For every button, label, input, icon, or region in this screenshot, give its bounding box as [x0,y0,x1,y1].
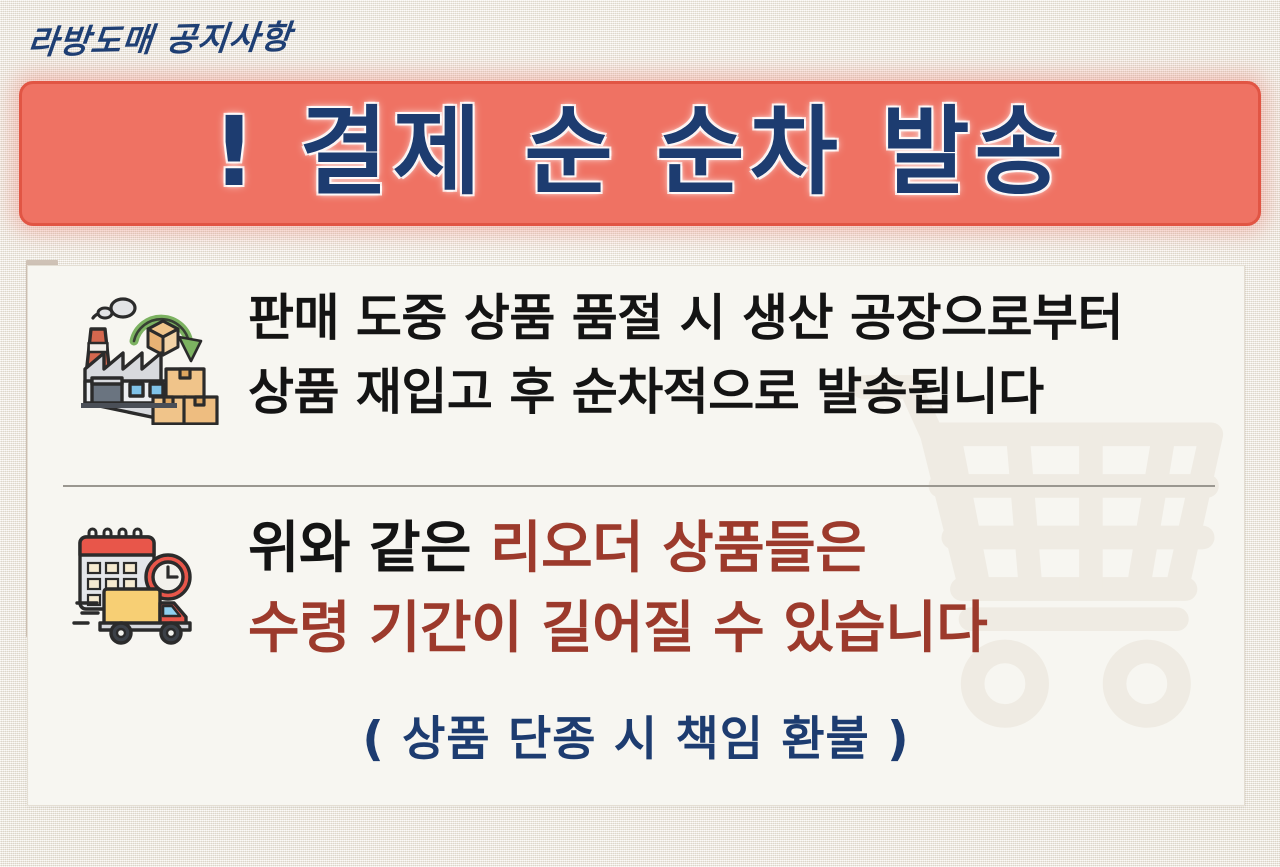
notice-line-3: 위와 같은 리오더 상품들은 [248,509,987,589]
notice-text-block-2: 위와 같은 리오더 상품들은 수령 기간이 길어질 수 있습니다 [248,509,987,669]
refund-note: ( 상품 단종 시 책임 환불 ) [28,709,1244,771]
notice-line-3-part-1: 위와 같은 [248,516,490,581]
notice-line-4: 수령 기간이 길어질 수 있습니다 [248,589,987,669]
factory-reorder-icon [66,280,226,430]
poster-canvas: 라방도매 공지사항 ! 결제 순 순차 발송 [0,0,1280,867]
notice-section-2: 위와 같은 리오더 상품들은 수령 기간이 길어질 수 있습니다 [66,509,987,669]
calendar-clock-truck-icon [66,514,226,664]
section-divider [63,485,1215,487]
notice-section-1: 판매 도중 상품 품절 시 생산 공장으로부터 상품 재입고 후 순차적으로 발… [66,280,1123,430]
notice-line-1: 판매 도중 상품 품절 시 생산 공장으로부터 [248,281,1123,355]
kicker-label: 라방도매 공지사항 [25,15,293,65]
headline-banner: ! 결제 순 순차 발송 [19,81,1261,226]
notice-text-block-1: 판매 도중 상품 품절 시 생산 공장으로부터 상품 재입고 후 순차적으로 발… [248,281,1123,429]
notice-line-3-part-2: 리오더 상품들은 [490,516,866,581]
notice-line-2: 상품 재입고 후 순차적으로 발송됩니다 [248,355,1123,429]
headline-title: ! 결제 순 순차 발송 [212,102,1068,202]
notice-card: 판매 도중 상품 품절 시 생산 공장으로부터 상품 재입고 후 순차적으로 발… [27,265,1245,806]
